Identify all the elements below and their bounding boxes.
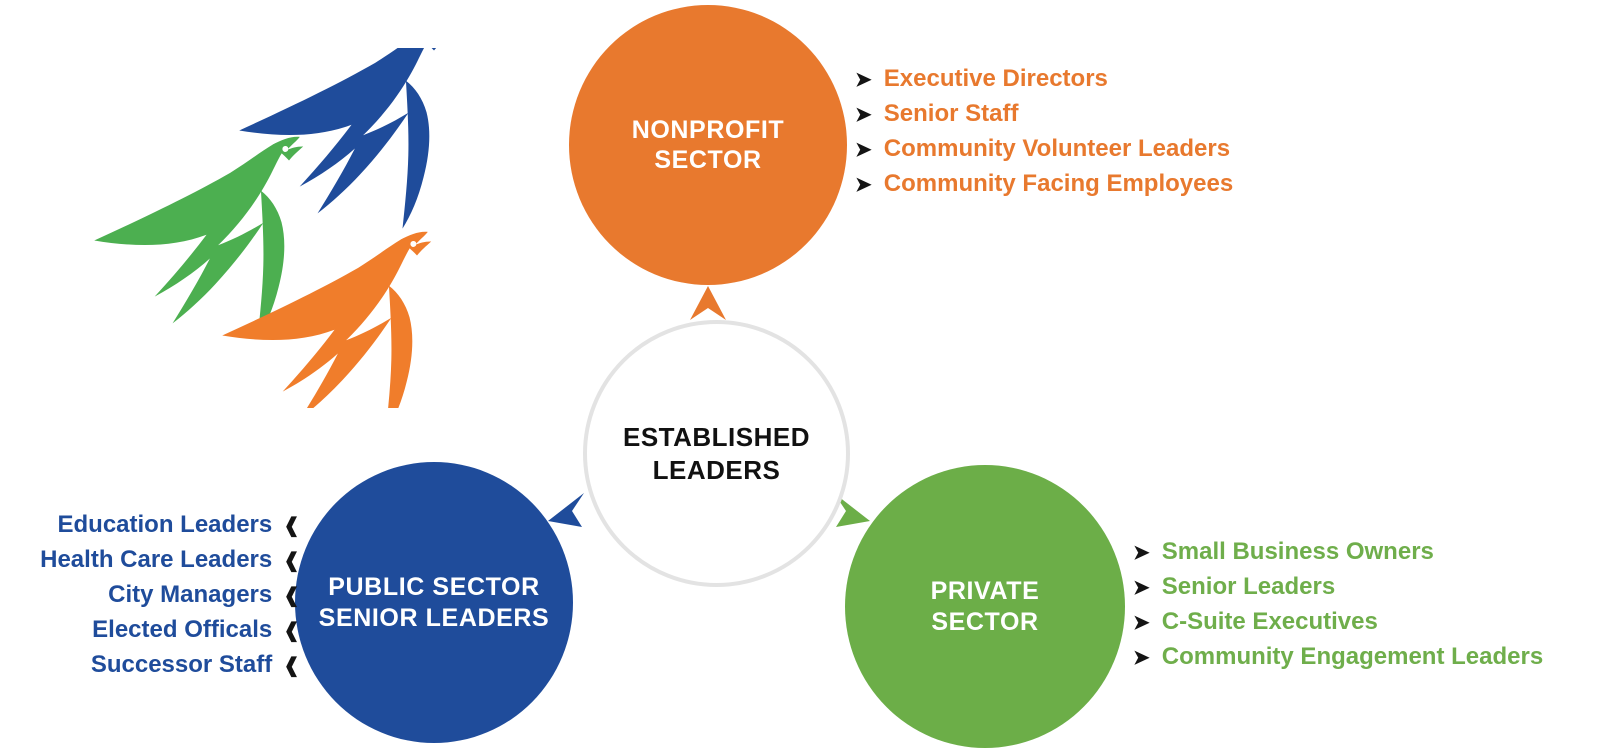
circle-established-leaders[interactable]: ESTABLISHED LEADERS bbox=[583, 320, 850, 587]
circle-private-label: PRIVATE SECTOR bbox=[931, 576, 1040, 637]
list-item: ➤ Community Facing Employees bbox=[855, 167, 1233, 202]
circle-nonprofit-label: NONPROFIT SECTOR bbox=[632, 115, 785, 176]
list-item-label: Health Care Leaders bbox=[40, 543, 272, 577]
list-item: City Managers ❰ bbox=[10, 578, 300, 613]
arrow-right-bullet-icon: ➤ bbox=[1133, 641, 1150, 675]
list-item: ➤ Executive Directors bbox=[855, 62, 1233, 97]
arrow-right-bullet-icon: ➤ bbox=[855, 133, 872, 167]
arrow-left-bullet-icon: ❰ bbox=[283, 649, 300, 683]
list-item: ➤ C-Suite Executives bbox=[1133, 605, 1543, 640]
circle-private-sector[interactable]: PRIVATE SECTOR bbox=[845, 465, 1125, 748]
arrow-left-bullet-icon: ❰ bbox=[283, 579, 300, 613]
list-item-label: Community Volunteer Leaders bbox=[884, 132, 1230, 166]
circle-public-sector[interactable]: PUBLIC SECTOR SENIOR LEADERS bbox=[295, 462, 573, 743]
list-item-label: Education Leaders bbox=[58, 508, 273, 542]
list-nonprofit-items: ➤ Executive Directors ➤ Senior Staff ➤ C… bbox=[855, 62, 1233, 202]
arrow-right-bullet-icon: ➤ bbox=[855, 98, 872, 132]
arrow-right-bullet-icon: ➤ bbox=[1133, 536, 1150, 570]
list-item: ➤ Senior Leaders bbox=[1133, 570, 1543, 605]
arrow-right-bullet-icon: ➤ bbox=[855, 168, 872, 202]
list-item-label: Successor Staff bbox=[91, 648, 272, 682]
list-item: Successor Staff ❰ bbox=[10, 648, 300, 683]
swallow-orange-icon bbox=[212, 231, 457, 408]
arrow-up-icon bbox=[688, 286, 728, 322]
list-item: ➤ Community Volunteer Leaders bbox=[855, 132, 1233, 167]
list-item-label: City Managers bbox=[108, 578, 272, 612]
list-public-sector-items: Education Leaders ❰ Health Care Leaders … bbox=[10, 508, 300, 683]
arrow-right-bullet-icon: ➤ bbox=[1133, 571, 1150, 605]
list-item-label: Community Engagement Leaders bbox=[1162, 640, 1543, 674]
arrow-down-left-icon bbox=[546, 493, 586, 533]
three-swallows-logo bbox=[78, 48, 468, 408]
list-item-label: Senior Staff bbox=[884, 97, 1019, 131]
arrow-left-bullet-icon: ❰ bbox=[283, 509, 300, 543]
list-private-sector-items: ➤ Small Business Owners ➤ Senior Leaders… bbox=[1133, 535, 1543, 675]
list-item: Education Leaders ❰ bbox=[10, 508, 300, 543]
arrow-right-bullet-icon: ➤ bbox=[1133, 606, 1150, 640]
list-item-label: Community Facing Employees bbox=[884, 167, 1233, 201]
list-item-label: Executive Directors bbox=[884, 62, 1108, 96]
list-item-label: C-Suite Executives bbox=[1162, 605, 1378, 639]
established-leaders-label: ESTABLISHED LEADERS bbox=[623, 421, 810, 487]
circle-nonprofit-sector[interactable]: NONPROFIT SECTOR bbox=[569, 5, 847, 285]
arrow-left-bullet-icon: ❰ bbox=[283, 544, 300, 578]
list-item: Health Care Leaders ❰ bbox=[10, 543, 300, 578]
list-item: ➤ Community Engagement Leaders bbox=[1133, 640, 1543, 675]
list-item: ➤ Senior Staff bbox=[855, 97, 1233, 132]
list-item: ➤ Small Business Owners bbox=[1133, 535, 1543, 570]
arrow-right-bullet-icon: ➤ bbox=[855, 63, 872, 97]
list-item-label: Small Business Owners bbox=[1162, 535, 1434, 569]
list-item-label: Elected Officals bbox=[92, 613, 272, 647]
circle-public-label: PUBLIC SECTOR SENIOR LEADERS bbox=[319, 572, 550, 633]
list-item: Elected Officals ❰ bbox=[10, 613, 300, 648]
diagram-canvas: NONPROFIT SECTOR PUBLIC SECTOR SENIOR LE… bbox=[0, 0, 1600, 753]
list-item-label: Senior Leaders bbox=[1162, 570, 1335, 604]
arrow-left-bullet-icon: ❰ bbox=[283, 614, 300, 648]
